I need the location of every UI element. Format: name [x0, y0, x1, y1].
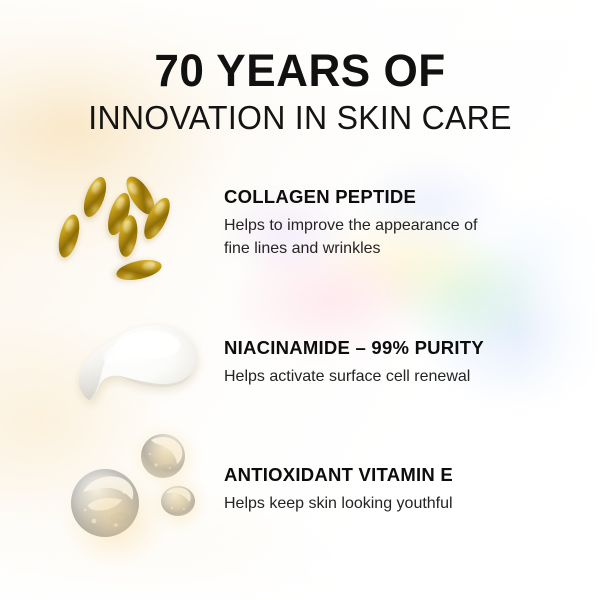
droplet-glow [152, 476, 206, 528]
feature-description: Helps to improve the appearance of fine … [224, 215, 554, 260]
feature-title: ANTIOXIDANT VITAMIN E [224, 464, 554, 486]
feature-description-line: Helps to improve the appearance of [224, 215, 554, 238]
capsule-icon [55, 212, 83, 259]
feature-collagen-peptide: COLLAGEN PEPTIDE Helps to improve the ap… [224, 186, 554, 260]
capsule-icon [79, 174, 110, 220]
serum-droplets-illustration [58, 430, 213, 545]
feature-description-line: fine lines and wrinkles [224, 238, 554, 261]
capsule-icon [115, 256, 164, 283]
headline-secondary: INNOVATION IN SKIN CARE [9, 98, 591, 138]
feature-description: Helps keep skin looking youthful [224, 493, 554, 516]
feature-antioxidant-vitamin-e: ANTIOXIDANT VITAMIN E Helps keep skin lo… [224, 464, 554, 516]
feature-description-line: Helps keep skin looking youthful [224, 493, 554, 516]
headline-block: 70 YEARS OF INNOVATION IN SKIN CARE [0, 48, 600, 138]
feature-description: Helps activate surface cell renewal [224, 366, 554, 389]
cream-swirl-illustration [58, 305, 218, 410]
feature-title: NIACINAMIDE – 99% PURITY [224, 337, 554, 359]
cream-swirl-shape [58, 305, 218, 410]
headline-primary: 70 YEARS OF [6, 48, 594, 94]
gold-capsules-illustration [62, 168, 212, 288]
product-ingredient-poster: 70 YEARS OF INNOVATION IN SKIN CARE [0, 0, 600, 600]
feature-description-line: Helps activate surface cell renewal [224, 366, 554, 389]
feature-niacinamide: NIACINAMIDE – 99% PURITY Helps activate … [224, 337, 554, 389]
feature-title: COLLAGEN PEPTIDE [224, 186, 554, 208]
